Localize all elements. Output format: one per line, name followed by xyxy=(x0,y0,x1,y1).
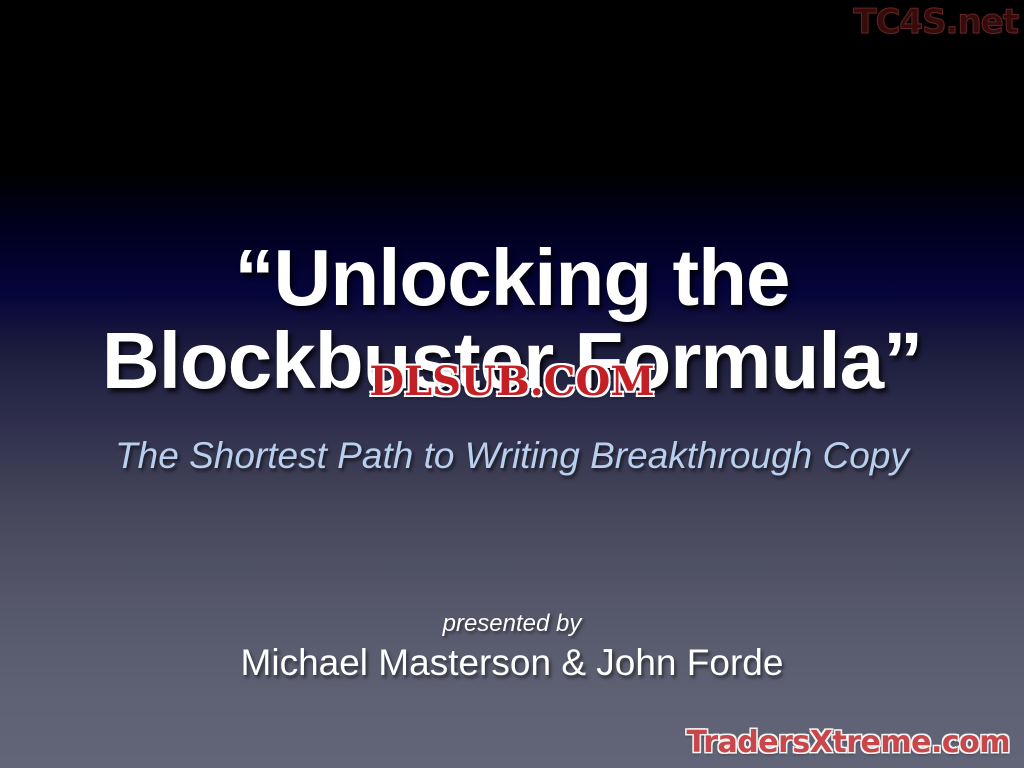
top-right-site-watermark: TC4S.net xyxy=(853,2,1018,42)
slide-subtitle: The Shortest Path to Writing Breakthroug… xyxy=(0,435,1024,477)
presentation-slide: TC4S.net “Unlocking the Blockbuster Form… xyxy=(0,0,1024,768)
presented-by-label: presented by xyxy=(0,610,1024,638)
bottom-right-site-watermark: TradersXtreme.com xyxy=(687,725,1010,760)
presenter-block: presented by Michael Masterson & John Fo… xyxy=(0,610,1024,684)
title-line-1: “Unlocking the xyxy=(0,236,1024,319)
title-line-2: Blockbuster Formula” xyxy=(0,319,1024,402)
slide-title: “Unlocking the Blockbuster Formula” xyxy=(0,236,1024,402)
presenter-names: Michael Masterson & John Forde xyxy=(0,642,1024,684)
